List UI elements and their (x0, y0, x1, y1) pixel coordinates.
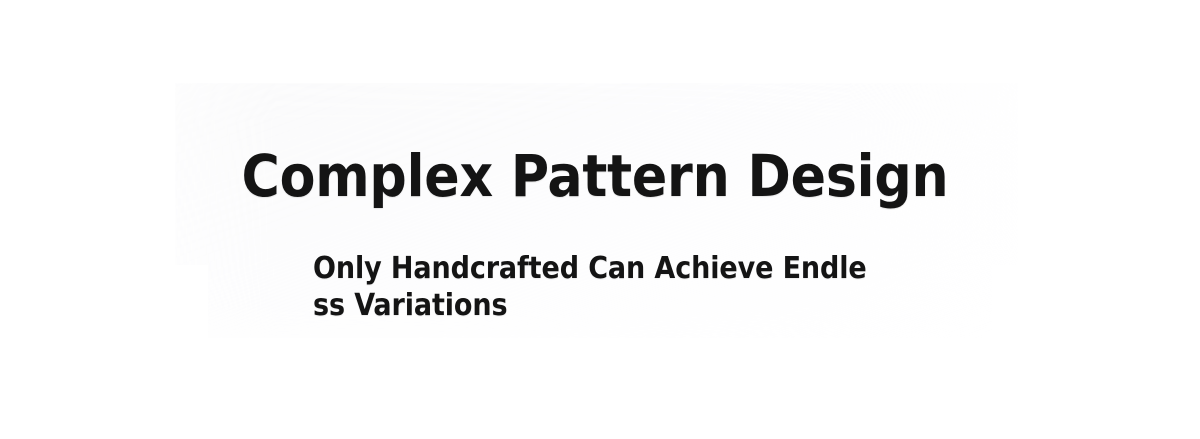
slide-canvas: Complex Pattern Design Only Handcrafted … (0, 0, 1200, 439)
page-title: Complex Pattern Design (0, 145, 1190, 207)
slide-content: Complex Pattern Design Only Handcrafted … (0, 0, 1200, 439)
page-subtitle: Only Handcrafted Can Achieve Endless Var… (313, 250, 879, 324)
